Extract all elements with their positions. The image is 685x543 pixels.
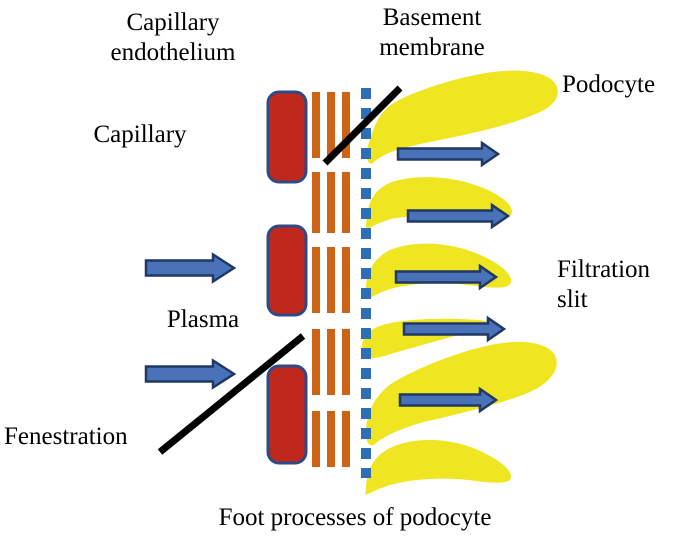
fenestration-group-3-bar-1 [312, 247, 320, 313]
label-fenestration: Fenestration [4, 422, 169, 452]
filtration-arrow-3 [396, 266, 496, 288]
fenestration-group-2-bar-2 [327, 172, 335, 233]
capillary-block-3 [268, 366, 306, 463]
glomerular-filtration-diagram: Capillary endotheliumCapillaryBasement m… [0, 0, 685, 543]
label-capillary-endothelium: Capillary endothelium [83, 8, 263, 67]
label-capillary: Capillary [70, 120, 210, 150]
filtration-arrow-2 [408, 205, 508, 227]
label-podocyte: Podocyte [562, 70, 685, 100]
fenestration-group-5-bar-3 [342, 411, 350, 467]
fenestration-group-1-bar-2 [327, 92, 335, 158]
plasma-arrow-1 [146, 255, 234, 282]
fenestration-group-3-bar-2 [327, 247, 335, 313]
label-foot-processes-caption: Foot processes of podocyte [200, 503, 510, 533]
filtration-arrow-1 [398, 143, 498, 165]
fenestration-group-5-bar-2 [327, 411, 335, 467]
plasma-arrow-2 [146, 361, 234, 388]
fenestration-group-4-bar-3 [342, 329, 350, 395]
fenestration-group-4-bar-1 [312, 329, 320, 395]
label-basement-membrane: Basement membrane [352, 3, 512, 62]
capillary-block-2 [268, 226, 306, 315]
filtration-arrow-5 [400, 389, 496, 411]
label-plasma: Plasma [143, 305, 263, 335]
label-filtration-slit: Filtration slit [557, 255, 685, 314]
capillary-block-1 [268, 92, 306, 182]
fenestration-group-5-bar-1 [312, 411, 320, 467]
fenestration-group-4-bar-2 [327, 329, 335, 395]
fenestration-group-2-bar-1 [312, 172, 320, 233]
fenestration-group-2-bar-3 [342, 172, 350, 233]
fenestration-group-3-bar-3 [342, 247, 350, 313]
fenestration-group-1-bar-1 [312, 92, 320, 158]
filtration-arrow-4 [404, 318, 504, 340]
